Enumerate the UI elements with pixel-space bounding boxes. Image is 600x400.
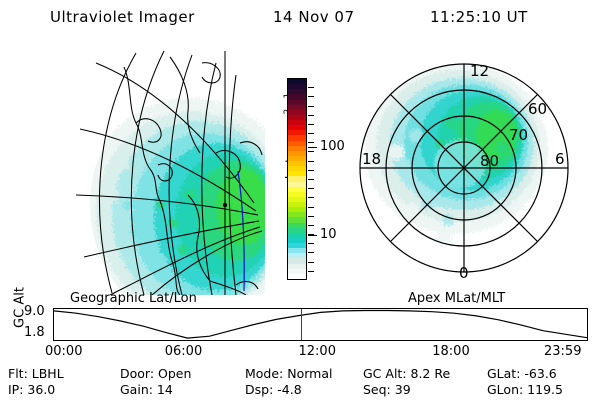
- status-bar: Flt: LBHL IP: 36.0 Door: Open Gain: 14 M…: [0, 366, 600, 400]
- colorbar-tick-label: 100: [320, 140, 345, 153]
- colorbar-swatch: [288, 274, 306, 279]
- status-filter: Flt: LBHL: [8, 366, 64, 381]
- colorbar-minor-tick: [308, 216, 314, 217]
- mlt-plot-canvas: 12 18 6 0 60 70 80: [352, 52, 587, 287]
- status-glon: GLon: 119.5: [487, 382, 563, 397]
- colorbar-minor-tick: [308, 96, 314, 97]
- geographic-polar-plot[interactable]: [40, 45, 265, 295]
- colorbar-gradient: [287, 78, 307, 280]
- mlt-label-12: 12: [470, 62, 489, 80]
- status-seq: Seq: 39: [363, 382, 411, 397]
- mlt-label-6: 6: [555, 150, 565, 168]
- status-gc-alt: GC Alt: 8.2 Re: [363, 366, 450, 381]
- colorbar-tick-label: 10: [320, 228, 337, 241]
- orbit-altitude-canvas: [54, 309, 587, 340]
- orbit-altitude-plot[interactable]: [53, 308, 588, 341]
- colorbar-major-tick: [308, 147, 317, 148]
- colorbar-minor-tick: [308, 170, 314, 171]
- orbit-xtick-label: 12:00: [299, 345, 336, 358]
- orbit-ytick-low: 1.8: [24, 326, 45, 339]
- colorbar-group: photon cm-2s-1 10010: [262, 60, 354, 300]
- aurora-oval-region: [364, 62, 548, 246]
- mlt-panel-title: Apex MLat/MLT: [408, 291, 505, 306]
- orbit-xtick-label: 23:59: [544, 345, 581, 358]
- mlt-spokes: [360, 64, 568, 272]
- orbit-ytick-high: 9.0: [24, 305, 45, 318]
- mlat-label-60: 60: [528, 100, 547, 118]
- pole-marker: [223, 203, 227, 207]
- colorbar-minor-tick: [308, 142, 314, 143]
- mlt-polar-plot[interactable]: 12 18 6 0 60 70 80: [352, 52, 587, 287]
- status-mode: Mode: Normal: [245, 366, 332, 381]
- colorbar-minor-tick: [308, 124, 314, 125]
- observation-date: 14 Nov 07: [273, 8, 355, 26]
- orbit-xtick-label: 00:00: [45, 345, 82, 358]
- colorbar-minor-tick: [308, 87, 314, 88]
- colorbar-minor-tick: [308, 197, 314, 198]
- colorbar-minor-tick: [308, 243, 314, 244]
- colorbar-minor-tick: [308, 252, 314, 253]
- mlt-label-0: 0: [459, 264, 469, 282]
- orbit-xtick-label: 18:00: [432, 345, 469, 358]
- colorbar-minor-tick: [308, 225, 314, 226]
- colorbar-minor-tick: [308, 133, 314, 134]
- status-glat: GLat: -63.6: [487, 366, 557, 381]
- mlt-label-18: 18: [362, 150, 381, 168]
- status-gain: Gain: 14: [120, 382, 173, 397]
- colorbar-minor-tick: [308, 151, 314, 152]
- colorbar-minor-tick: [308, 106, 314, 107]
- colorbar-minor-tick: [308, 207, 314, 208]
- colorbar-minor-tick: [308, 262, 314, 263]
- colorbar-minor-tick: [308, 271, 314, 272]
- colorbar-major-tick: [308, 235, 317, 236]
- colorbar-minor-tick: [308, 179, 314, 180]
- header-bar: Ultraviolet Imager 14 Nov 07 11:25:10 UT: [0, 8, 600, 34]
- mlat-label-70: 70: [509, 126, 528, 144]
- colorbar-minor-tick: [308, 188, 314, 189]
- mlat-label-80: 80: [480, 152, 499, 170]
- geographic-panel-title: Geographic Lat/Lon: [70, 291, 197, 306]
- orbit-xtick-label: 06:00: [165, 345, 202, 358]
- status-dsp: Dsp: -4.8: [245, 382, 302, 397]
- colorbar-minor-tick: [308, 115, 314, 116]
- geographic-plot-canvas: [40, 45, 265, 295]
- orbit-altitude-curve: [54, 311, 587, 339]
- current-time-cursor: [301, 309, 302, 340]
- observation-time: 11:25:10 UT: [430, 8, 528, 26]
- status-door: Door: Open: [120, 366, 191, 381]
- status-ip: IP: 36.0: [8, 382, 55, 397]
- colorbar-minor-tick: [308, 161, 314, 162]
- page-title: Ultraviolet Imager: [50, 8, 195, 26]
